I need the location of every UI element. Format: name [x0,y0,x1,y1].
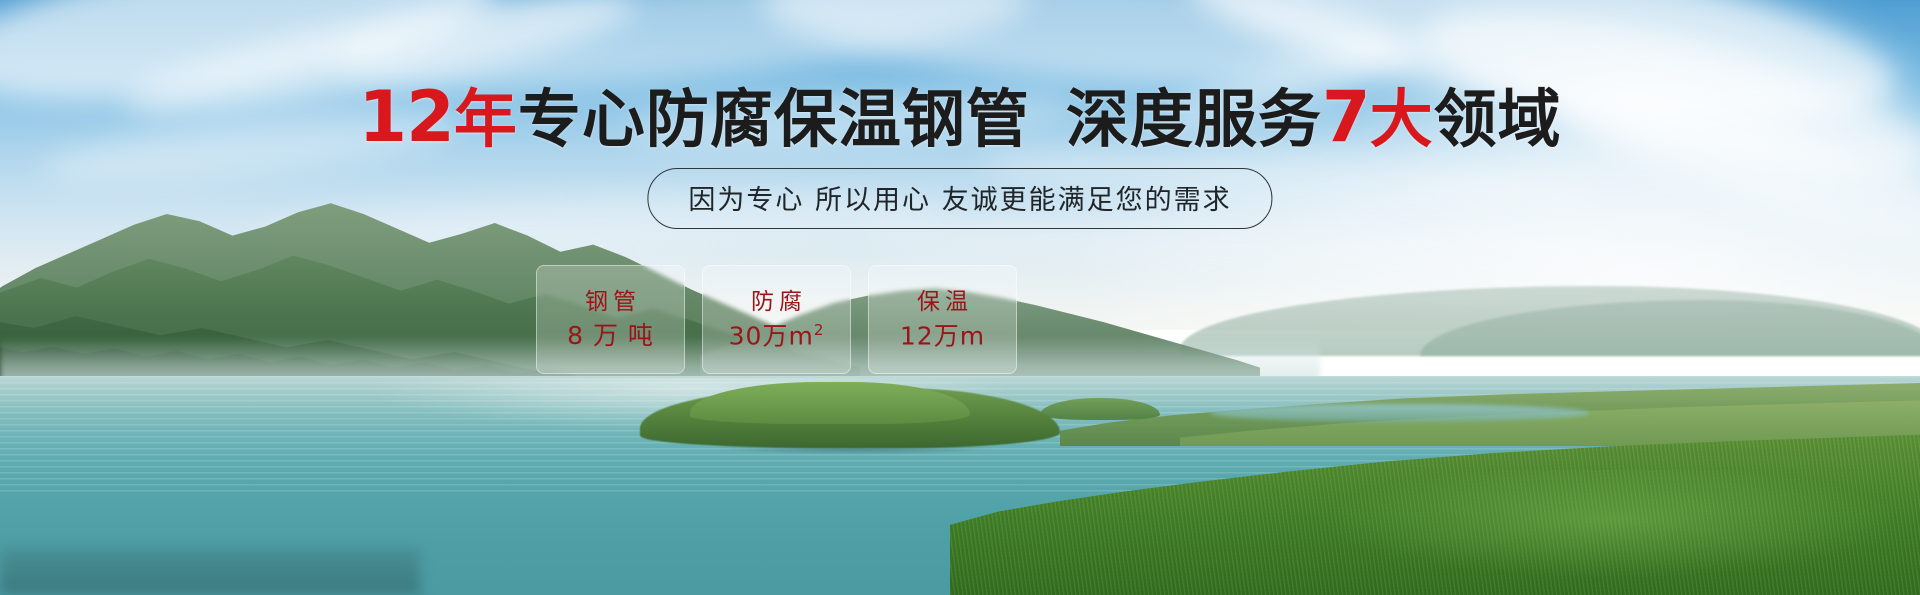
banner-content: 12年专心防腐保温钢管深度服务7大领域 因为专心 所以用心 友诚更能满足您的需求… [0,0,1920,595]
headline-fields-unit: 大 [1370,83,1434,156]
stat-card-value: 30万m2 [729,323,825,348]
stat-card-value-text: 8 万 吨 [567,321,654,350]
banner-headline: 12年专心防腐保温钢管深度服务7大领域 [0,82,1920,152]
banner-subtitle-pill: 因为专心 所以用心 友诚更能满足您的需求 [647,168,1272,229]
stat-card-group: 钢管 8 万 吨 防腐 30万m2 保温 12万m [536,265,1017,374]
headline-focus-phrase: 专心防腐保温钢管 [518,83,1030,156]
headline-years-number: 12 [358,76,453,158]
stat-card-insulation[interactable]: 保温 12万m [868,265,1017,374]
headline-service-phrase: 深度服务 [1066,83,1322,156]
stat-card-steel-pipe[interactable]: 钢管 8 万 吨 [536,265,685,374]
hero-banner: 12年专心防腐保温钢管深度服务7大领域 因为专心 所以用心 友诚更能满足您的需求… [0,0,1920,595]
stat-card-label: 钢管 [580,291,641,314]
stat-card-value-superscript: 2 [814,321,825,339]
stat-card-value: 12万m [900,323,985,348]
stat-card-value-text: 12万m [900,321,985,350]
stat-card-label: 保温 [912,291,973,314]
headline-fields-word: 领域 [1434,83,1562,156]
headline-fields-number: 7 [1322,76,1370,158]
stat-card-value-text: 30万m [729,321,814,350]
stat-card-label: 防腐 [746,291,807,314]
stat-card-anticorrosion[interactable]: 防腐 30万m2 [702,265,851,374]
headline-years-unit: 年 [454,83,518,156]
stat-card-value: 8 万 吨 [567,323,654,348]
